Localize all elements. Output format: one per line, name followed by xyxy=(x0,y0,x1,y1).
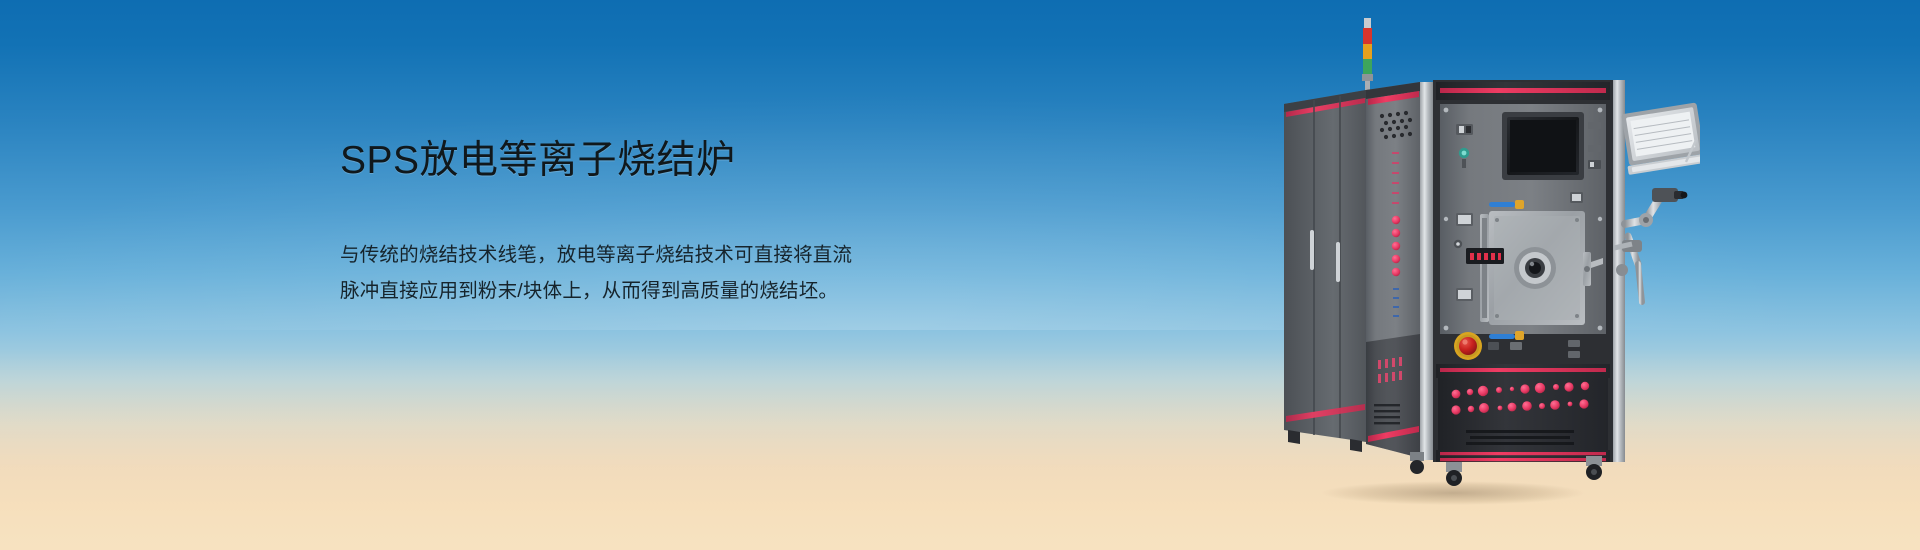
hero-description-line-1: 与传统的烧结技术线笔，放电等离子烧结技术可直接将直流 xyxy=(340,237,840,273)
corner-post-left xyxy=(1420,82,1433,460)
hero-description-line-2: 脉冲直接应用到粉末/块体上，从而得到高质量的烧结坯。 xyxy=(340,273,840,309)
accent-stripe-bottom xyxy=(1436,450,1610,462)
page-title: SPS放电等离子烧结炉 xyxy=(340,138,960,185)
emergency-stop-button xyxy=(1454,332,1482,360)
camera-head xyxy=(1652,188,1687,202)
hmi-touchscreen xyxy=(1502,112,1584,180)
sps-furnace-illustration xyxy=(1270,12,1700,532)
bottom-vent-grille xyxy=(1466,430,1574,445)
hero-description: 与传统的烧结技术线笔，放电等离子烧结技术可直接将直流 脉冲直接应用到粉末/块体上… xyxy=(340,237,840,309)
hero-text-block: SPS放电等离子烧结炉 与传统的烧结技术线笔，放电等离子烧结技术可直接将直流 脉… xyxy=(340,138,960,309)
accent-stripe-top xyxy=(1440,88,1606,93)
left-cabinet xyxy=(1284,90,1366,452)
vacuum-chamber-door xyxy=(1480,211,1603,325)
main-front-frame xyxy=(1433,80,1613,462)
accent-stripe-middle xyxy=(1436,364,1610,378)
hero-banner: SPS放电等离子烧结炉 与传统的烧结技术线笔，放电等离子烧结技术可直接将直流 脉… xyxy=(0,0,1920,550)
side-cabinet xyxy=(1366,82,1420,458)
monitor-arm-laptop xyxy=(1614,102,1700,302)
panel-indicator-mid-right xyxy=(1570,192,1583,203)
